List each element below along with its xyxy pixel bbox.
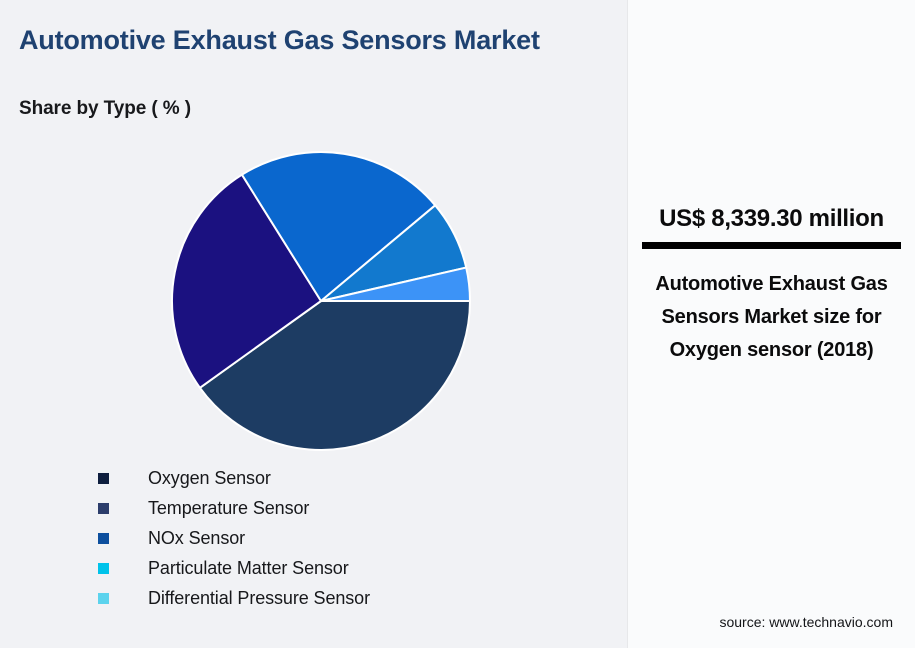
legend-item: Differential Pressure Sensor [98,583,598,613]
legend-item-label: Particulate Matter Sensor [148,558,349,579]
legend-item-label: Oxygen Sensor [148,468,271,489]
chart-panel: Automotive Exhaust Gas Sensors Market Sh… [0,0,627,648]
legend-swatch-icon [98,593,109,604]
legend-swatch-icon [98,563,109,574]
pie-chart-svg [172,152,470,450]
kpi-divider [642,242,901,249]
chart-legend: Oxygen SensorTemperature SensorNOx Senso… [98,463,598,613]
chart-subtitle: Share by Type ( % ) [19,98,191,120]
legend-item-label: NOx Sensor [148,528,245,549]
kpi-value: US$ 8,339.30 million [628,205,915,238]
pie-chart [172,152,470,450]
kpi-caption: Automotive Exhaust Gas Sensors Market si… [628,268,915,367]
legend-item: Oxygen Sensor [98,463,598,493]
callout-panel: US$ 8,339.30 million Automotive Exhaust … [627,0,915,648]
page-title: Automotive Exhaust Gas Sensors Market [19,25,579,56]
legend-swatch-icon [98,473,109,484]
legend-item-label: Temperature Sensor [148,498,309,519]
legend-swatch-icon [98,503,109,514]
legend-item: Particulate Matter Sensor [98,553,598,583]
source-note: source: www.technavio.com [719,614,893,630]
legend-item-label: Differential Pressure Sensor [148,588,370,609]
legend-item: Temperature Sensor [98,493,598,523]
legend-item: NOx Sensor [98,523,598,553]
legend-swatch-icon [98,533,109,544]
chart-infographic: Automotive Exhaust Gas Sensors Market Sh… [0,0,915,648]
kpi-block: US$ 8,339.30 million Automotive Exhaust … [628,205,915,367]
